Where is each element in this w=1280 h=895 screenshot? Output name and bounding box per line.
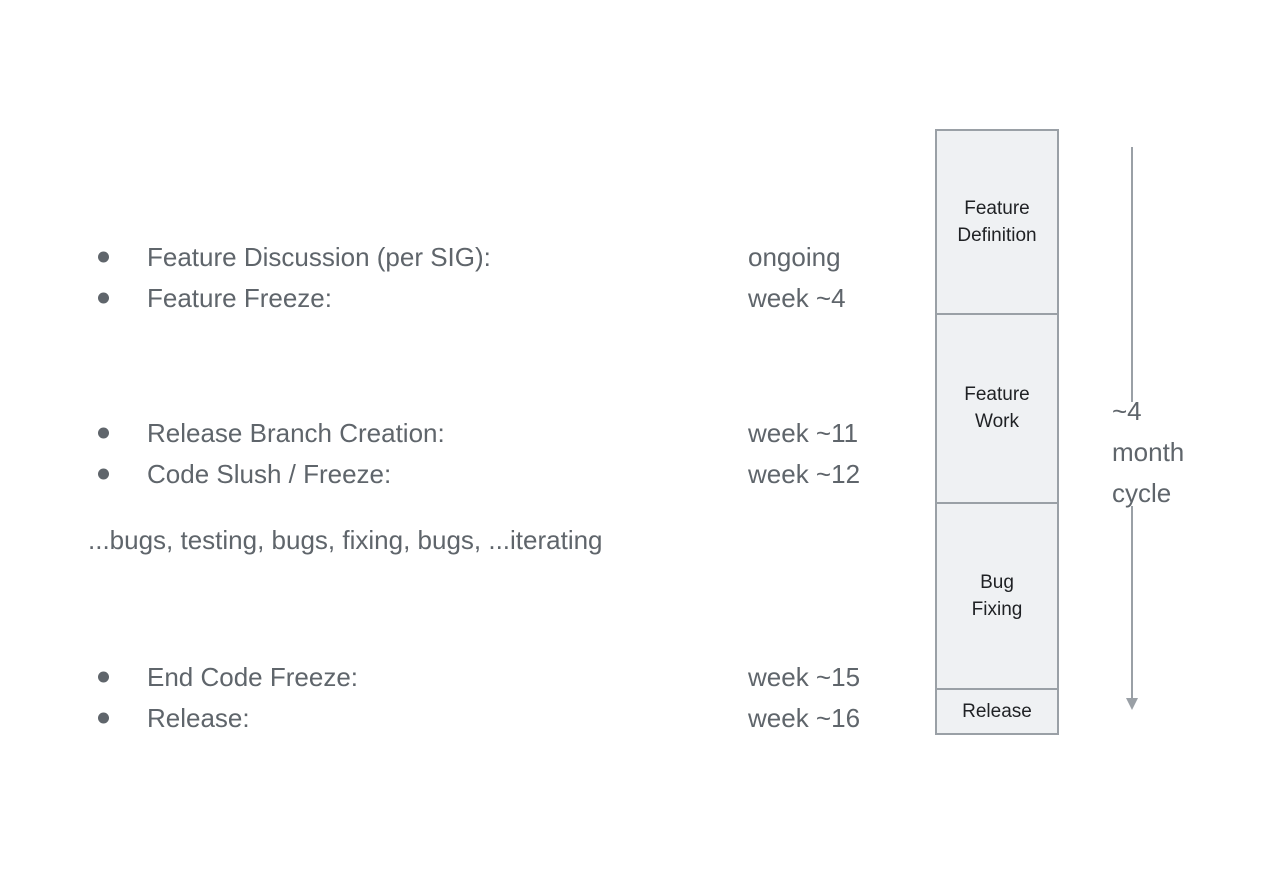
slide-canvas: Feature Discussion (per SIG): ongoing Fe… <box>0 0 1280 895</box>
schedule-row: End Code Freeze: week ~15 <box>0 656 900 697</box>
phase-feature-work: Feature Work <box>937 315 1057 504</box>
cycle-duration-annotation: ~4 month cycle <box>1100 129 1260 735</box>
schedule-group: Feature Discussion (per SIG): ongoing Fe… <box>0 236 900 318</box>
schedule-row-label: Feature Discussion (per SIG): <box>147 241 491 273</box>
iteration-note: ...bugs, testing, bugs, fixing, bugs, ..… <box>88 524 603 556</box>
schedule-row: Feature Discussion (per SIG): ongoing <box>0 236 900 277</box>
schedule-row-value: week ~15 <box>748 661 860 693</box>
schedule-row: Release Branch Creation: week ~11 <box>0 412 900 453</box>
schedule-row-label: Release Branch Creation: <box>147 417 445 449</box>
schedule-row-value: week ~16 <box>748 702 860 734</box>
cycle-arrow-line-top <box>1131 147 1133 402</box>
schedule-row: Release: week ~16 <box>0 697 900 738</box>
bullet-dot-icon <box>98 712 109 723</box>
schedule-row-label: Feature Freeze: <box>147 282 332 314</box>
schedule-group: End Code Freeze: week ~15 Release: week … <box>0 656 900 738</box>
phase-release: Release <box>937 690 1057 733</box>
schedule-row-value: week ~12 <box>748 458 860 490</box>
schedule-row-value: week ~11 <box>748 417 858 449</box>
schedule-row: Feature Freeze: week ~4 <box>0 277 900 318</box>
schedule-row-label: End Code Freeze: <box>147 661 358 693</box>
schedule-row-label: Code Slush / Freeze: <box>147 458 391 490</box>
schedule-row-label: Release: <box>147 702 250 734</box>
schedule-group: Release Branch Creation: week ~11 Code S… <box>0 412 900 494</box>
bullet-dot-icon <box>98 251 109 262</box>
bullet-dot-icon <box>98 468 109 479</box>
arrow-down-icon <box>1126 698 1138 710</box>
release-schedule-list: Feature Discussion (per SIG): ongoing Fe… <box>0 0 900 895</box>
schedule-row-value: week ~4 <box>748 282 846 314</box>
bullet-dot-icon <box>98 427 109 438</box>
phase-bug-fixing: Bug Fixing <box>937 504 1057 691</box>
release-phase-bar: Feature Definition Feature Work Bug Fixi… <box>935 129 1059 735</box>
bullet-dot-icon <box>98 671 109 682</box>
cycle-arrow-line-bottom <box>1131 506 1133 699</box>
bullet-dot-icon <box>98 292 109 303</box>
schedule-row: Code Slush / Freeze: week ~12 <box>0 453 900 494</box>
schedule-row-value: ongoing <box>748 241 841 273</box>
cycle-duration-label: ~4 month cycle <box>1112 391 1184 514</box>
phase-feature-definition: Feature Definition <box>937 131 1057 315</box>
